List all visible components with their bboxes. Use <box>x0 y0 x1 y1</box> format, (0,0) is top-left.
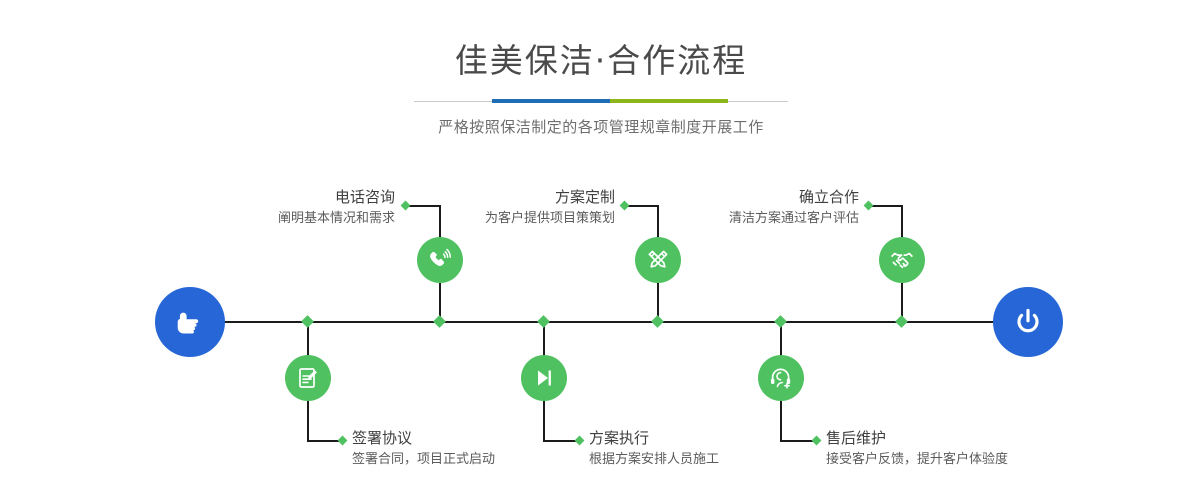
axis-diamond-4 <box>537 315 550 328</box>
step-marker-5 <box>864 201 874 211</box>
step-title-5: 确立合作 <box>640 187 859 207</box>
step-desc-4: 根据方案安排人员施工 <box>589 450 819 469</box>
step-title-4: 方案执行 <box>589 428 819 448</box>
step-connector-4-axis-stem <box>543 323 545 357</box>
axis-diamond-6 <box>774 315 787 328</box>
flow-start-node[interactable] <box>155 287 225 357</box>
step-desc-3: 为客户提供项目策策划 <box>400 209 615 228</box>
axis-diamond-5 <box>895 315 908 328</box>
step-connector-5-run <box>869 205 903 207</box>
step-node-4[interactable] <box>521 355 567 401</box>
step-desc-1: 阐明基本情况和需求 <box>180 209 395 228</box>
step-node-2[interactable] <box>285 355 331 401</box>
step-connector-2-stem <box>307 399 309 441</box>
handshake-icon <box>889 247 915 273</box>
step-title-3: 方案定制 <box>400 187 615 207</box>
pointing-hand-icon <box>170 302 210 342</box>
step-title-2: 签署协议 <box>352 428 582 448</box>
headset-support-icon <box>768 365 794 391</box>
axis-diamond-3 <box>651 315 664 328</box>
step-marker-2 <box>338 436 348 446</box>
power-icon <box>1008 302 1048 342</box>
step-desc-5: 清洁方案通过客户评估 <box>640 209 859 228</box>
timeline: 电话咨询 阐明基本情况和需求 签署协议 签署合同，项目正式启动 <box>0 0 1202 502</box>
step-desc-2: 签署合同，项目正式启动 <box>352 450 582 469</box>
document-pencil-icon <box>295 365 321 391</box>
play-skip-icon <box>531 365 557 391</box>
step-node-1[interactable] <box>417 237 463 283</box>
step-title-6: 售后维护 <box>826 428 1086 448</box>
step-node-3[interactable] <box>635 237 681 283</box>
flow-end-node[interactable] <box>993 287 1063 357</box>
step-title-1: 电话咨询 <box>180 187 395 207</box>
step-connector-6-axis-stem <box>780 323 782 357</box>
step-connector-5-stem <box>901 205 903 240</box>
step-desc-6: 接受客户反馈，提升客户体验度 <box>826 450 1086 469</box>
step-label-3: 方案定制 为客户提供项目策策划 <box>400 187 615 228</box>
step-label-4: 方案执行 根据方案安排人员施工 <box>589 428 819 469</box>
process-flow-infographic: 佳美保洁·合作流程 严格按照保洁制定的各项管理规章制度开展工作 <box>0 0 1202 502</box>
axis-diamond-2 <box>301 315 314 328</box>
step-connector-2-axis-stem <box>307 323 309 357</box>
step-label-2: 签署协议 签署合同，项目正式启动 <box>352 428 582 469</box>
step-label-5: 确立合作 清洁方案通过客户评估 <box>640 187 859 228</box>
step-label-1: 电话咨询 阐明基本情况和需求 <box>180 187 395 228</box>
step-label-6: 售后维护 接受客户反馈，提升客户体验度 <box>826 428 1086 469</box>
step-marker-3 <box>620 201 630 211</box>
axis-diamond-1 <box>433 315 446 328</box>
phone-ringing-icon <box>427 247 453 273</box>
step-node-6[interactable] <box>758 355 804 401</box>
pencil-ruler-icon <box>645 247 671 273</box>
step-node-5[interactable] <box>879 237 925 283</box>
